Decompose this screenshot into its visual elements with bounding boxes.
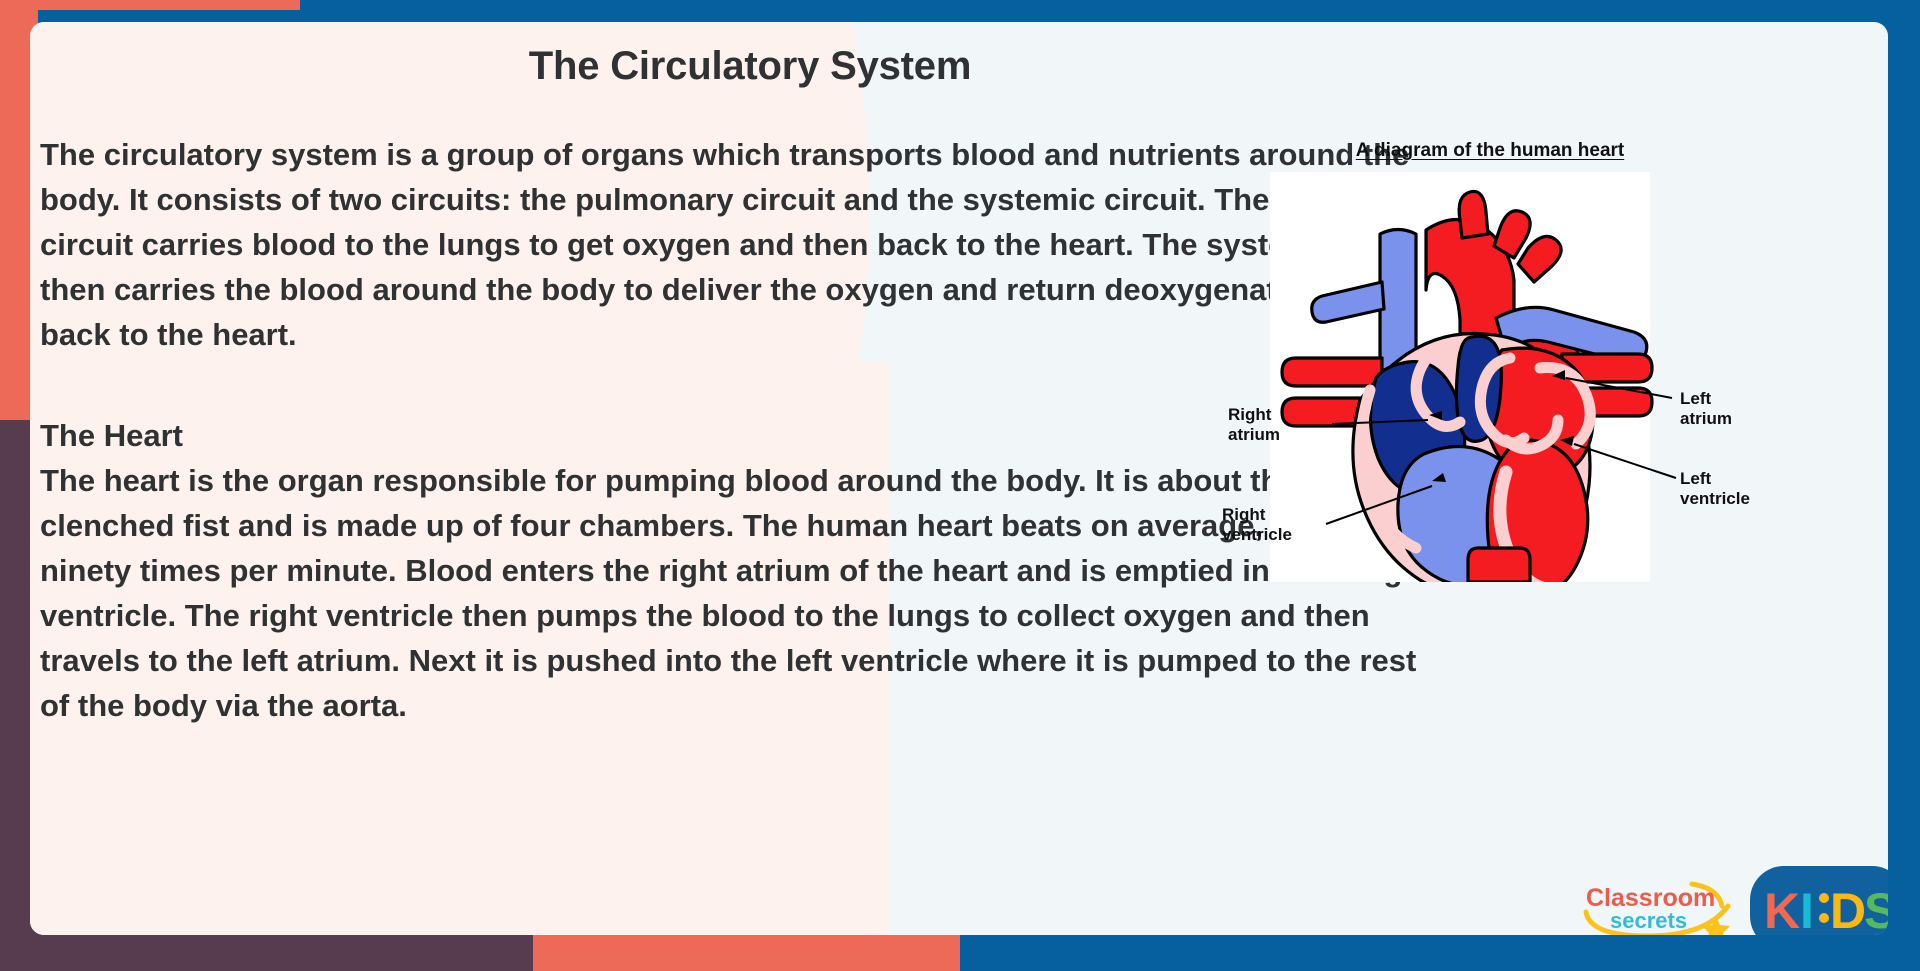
page-title: The Circulatory System <box>30 44 1470 89</box>
kids-logo: K I D S <box>1748 860 1888 935</box>
content-card: The Circulatory System The circulatory s… <box>30 22 1888 935</box>
label-right-ventricle-line2: ventricle <box>1222 525 1292 544</box>
kids-letter-k: K <box>1764 883 1800 935</box>
logo-row: Classroom secrets K I D S <box>1580 860 1888 935</box>
kids-dot-lower-icon <box>1819 913 1829 923</box>
card-inner: The Circulatory System The circulatory s… <box>30 22 1888 935</box>
label-left-ventricle-line1: Left <box>1680 469 1712 488</box>
heart-anatomy-svg: Right atrium Right ventricle Left atrium… <box>1210 172 1850 582</box>
border-bottom-purple <box>0 930 533 971</box>
descending-aorta-icon <box>1468 548 1530 582</box>
label-right-atrium-line2: atrium <box>1228 425 1280 444</box>
secrets-word: secrets <box>1610 908 1687 933</box>
label-right-atrium-line1: Right <box>1228 405 1272 424</box>
aortic-branch-1-icon <box>1459 191 1488 238</box>
slide-canvas: The Circulatory System The circulatory s… <box>0 0 1920 971</box>
label-right-ventricle-line1: Right <box>1222 505 1266 524</box>
kids-letter-s: S <box>1864 883 1888 935</box>
pulmonary-vein-left-1-icon <box>1282 358 1382 386</box>
classroom-secrets-logo: Classroom secrets <box>1580 878 1740 935</box>
kids-dot-upper-icon <box>1819 893 1829 903</box>
label-left-atrium-line2: atrium <box>1680 409 1732 428</box>
kids-logo-svg: K I D S <box>1748 860 1888 935</box>
heart-diagram-figure: Right atrium Right ventricle Left atrium… <box>1210 172 1850 582</box>
border-bottom-blue <box>960 930 1920 971</box>
classroom-secrets-logo-svg: Classroom secrets <box>1580 878 1740 935</box>
diagram-caption: A diagram of the human heart <box>1210 140 1770 162</box>
border-bottom-coral <box>533 930 960 971</box>
label-left-ventricle-line2: ventricle <box>1680 489 1750 508</box>
kids-letter-d: D <box>1830 883 1866 935</box>
border-top-coral <box>0 0 300 10</box>
heart-diagram-panel: A diagram of the human heart <box>1210 140 1850 580</box>
kids-letter-i: I <box>1800 883 1814 935</box>
label-left-atrium-line1: Left <box>1680 389 1712 408</box>
